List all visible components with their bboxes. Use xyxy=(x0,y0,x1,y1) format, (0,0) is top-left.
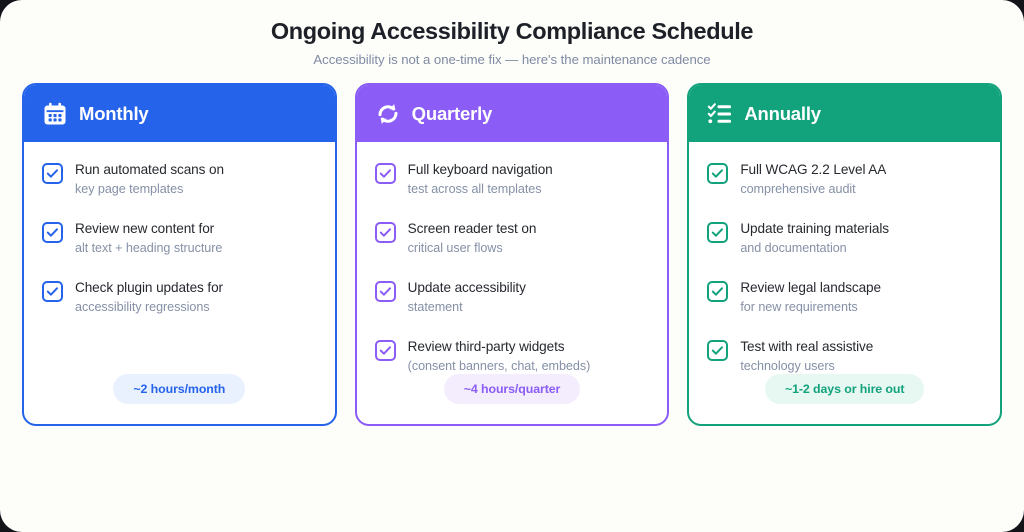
task-title: Update accessibility xyxy=(408,279,526,297)
effort-badge: ~4 hours/quarter xyxy=(444,374,581,404)
schedule-card-monthly: MonthlyRun automated scans onkey page te… xyxy=(22,83,337,426)
task-text: Update accessibilitystatement xyxy=(408,279,526,316)
card-task-list-monthly: Run automated scans onkey page templates… xyxy=(24,142,335,374)
task-item[interactable]: Screen reader test oncritical user flows xyxy=(375,220,650,257)
task-detail: technology users xyxy=(740,358,873,375)
task-title: Check plugin updates for xyxy=(75,279,223,297)
checkbox-checked-icon[interactable] xyxy=(707,281,728,302)
task-title: Update training materials xyxy=(740,220,889,238)
task-title: Review legal landscape xyxy=(740,279,881,297)
card-footer-quarterly: ~4 hours/quarter xyxy=(357,374,668,424)
task-item[interactable]: Full keyboard navigationtest across all … xyxy=(375,161,650,198)
task-text: Full keyboard navigationtest across all … xyxy=(408,161,553,198)
task-detail: alt text + heading structure xyxy=(75,240,222,257)
task-item[interactable]: Test with real assistivetechnology users xyxy=(707,338,982,375)
checkbox-checked-icon[interactable] xyxy=(375,163,396,184)
page-subtitle: Accessibility is not a one-time fix — he… xyxy=(0,52,1024,67)
task-title: Screen reader test on xyxy=(408,220,537,238)
task-text: Review third-party widgets(consent banne… xyxy=(408,338,591,375)
task-text: Check plugin updates foraccessibility re… xyxy=(75,279,223,316)
task-text: Full WCAG 2.2 Level AAcomprehensive audi… xyxy=(740,161,886,198)
checkbox-checked-icon[interactable] xyxy=(42,222,63,243)
infographic-page: Ongoing Accessibility Compliance Schedul… xyxy=(0,0,1024,532)
task-detail: accessibility regressions xyxy=(75,299,223,316)
checkbox-checked-icon[interactable] xyxy=(375,340,396,361)
task-title: Review new content for xyxy=(75,220,222,238)
checkbox-checked-icon[interactable] xyxy=(375,222,396,243)
task-detail: (consent banners, chat, embeds) xyxy=(408,358,591,375)
schedule-card-grid: MonthlyRun automated scans onkey page te… xyxy=(0,67,1024,426)
checkbox-checked-icon[interactable] xyxy=(42,163,63,184)
task-detail: test across all templates xyxy=(408,181,553,198)
task-item[interactable]: Run automated scans onkey page templates xyxy=(42,161,317,198)
checkbox-checked-icon[interactable] xyxy=(707,340,728,361)
task-title: Full keyboard navigation xyxy=(408,161,553,179)
page-header: Ongoing Accessibility Compliance Schedul… xyxy=(0,0,1024,67)
card-footer-annually: ~1-2 days or hire out xyxy=(689,374,1000,424)
schedule-card-annually: AnnuallyFull WCAG 2.2 Level AAcomprehens… xyxy=(687,83,1002,426)
task-detail: and documentation xyxy=(740,240,889,257)
task-detail: for new requirements xyxy=(740,299,881,316)
task-title: Test with real assistive xyxy=(740,338,873,356)
card-title: Annually xyxy=(744,103,821,125)
task-item[interactable]: Review new content foralt text + heading… xyxy=(42,220,317,257)
page-title: Ongoing Accessibility Compliance Schedul… xyxy=(0,17,1024,45)
card-header-monthly: Monthly xyxy=(24,85,335,142)
task-title: Run automated scans on xyxy=(75,161,224,179)
checklist-icon xyxy=(707,101,733,127)
task-title: Review third-party widgets xyxy=(408,338,591,356)
calendar-icon xyxy=(42,101,68,127)
card-footer-monthly: ~2 hours/month xyxy=(24,374,335,424)
checkbox-checked-icon[interactable] xyxy=(375,281,396,302)
card-title: Quarterly xyxy=(412,103,492,125)
task-detail: critical user flows xyxy=(408,240,537,257)
card-header-quarterly: Quarterly xyxy=(357,85,668,142)
card-header-annually: Annually xyxy=(689,85,1000,142)
task-title: Full WCAG 2.2 Level AA xyxy=(740,161,886,179)
task-detail: comprehensive audit xyxy=(740,181,886,198)
task-text: Update training materialsand documentati… xyxy=(740,220,889,257)
task-item[interactable]: Update accessibilitystatement xyxy=(375,279,650,316)
card-title: Monthly xyxy=(79,103,149,125)
task-text: Review legal landscapefor new requiremen… xyxy=(740,279,881,316)
task-item[interactable]: Review third-party widgets(consent banne… xyxy=(375,338,650,375)
refresh-cycle-icon xyxy=(375,101,401,127)
checkbox-checked-icon[interactable] xyxy=(42,281,63,302)
schedule-card-quarterly: QuarterlyFull keyboard navigationtest ac… xyxy=(355,83,670,426)
task-text: Test with real assistivetechnology users xyxy=(740,338,873,375)
task-item[interactable]: Review legal landscapefor new requiremen… xyxy=(707,279,982,316)
effort-badge: ~2 hours/month xyxy=(113,374,245,404)
task-text: Screen reader test oncritical user flows xyxy=(408,220,537,257)
task-item[interactable]: Update training materialsand documentati… xyxy=(707,220,982,257)
task-item[interactable]: Full WCAG 2.2 Level AAcomprehensive audi… xyxy=(707,161,982,198)
checkbox-checked-icon[interactable] xyxy=(707,163,728,184)
task-text: Run automated scans onkey page templates xyxy=(75,161,224,198)
task-detail: statement xyxy=(408,299,526,316)
effort-badge: ~1-2 days or hire out xyxy=(765,374,924,404)
task-detail: key page templates xyxy=(75,181,224,198)
card-task-list-annually: Full WCAG 2.2 Level AAcomprehensive audi… xyxy=(689,142,1000,374)
task-item[interactable]: Check plugin updates foraccessibility re… xyxy=(42,279,317,316)
card-task-list-quarterly: Full keyboard navigationtest across all … xyxy=(357,142,668,374)
task-text: Review new content foralt text + heading… xyxy=(75,220,222,257)
checkbox-checked-icon[interactable] xyxy=(707,222,728,243)
